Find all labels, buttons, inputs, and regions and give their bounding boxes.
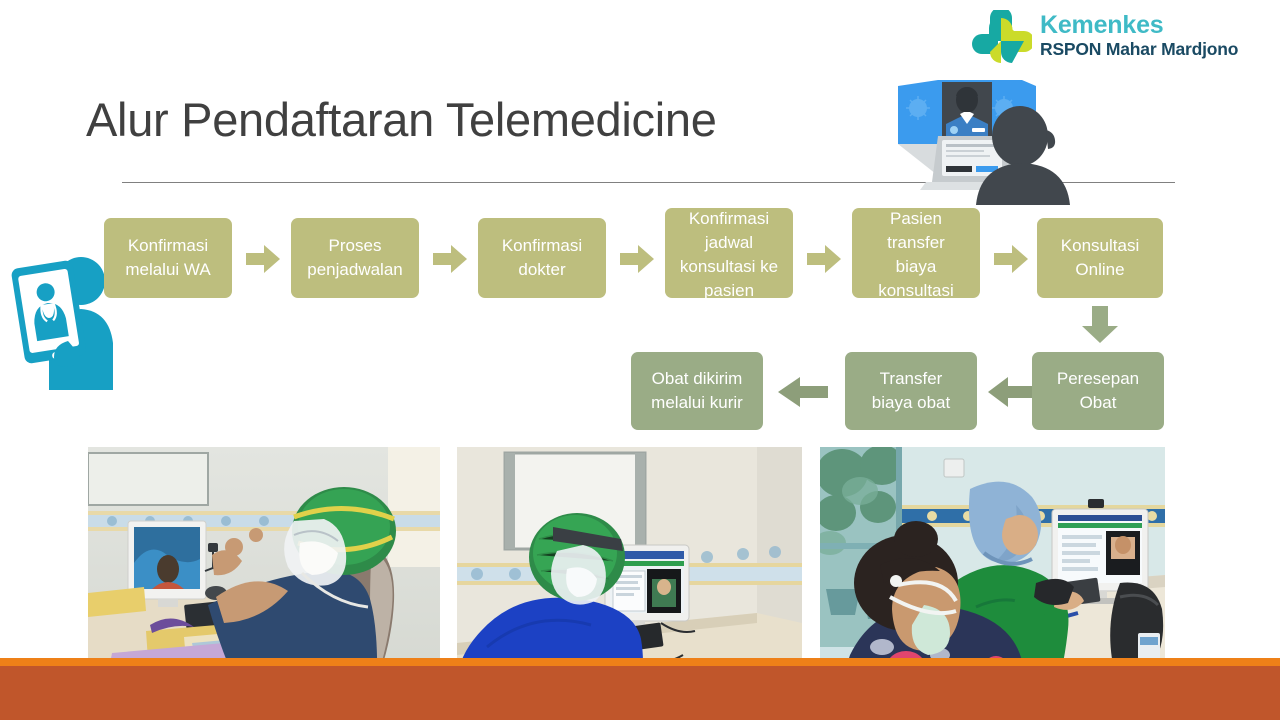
arrow-right-icon bbox=[807, 245, 841, 278]
page-title: Alur Pendaftaran Telemedicine bbox=[86, 92, 906, 147]
flow-box-konfirmasi-dokter[interactable]: Konfirmasidokter bbox=[478, 218, 606, 298]
arrow-right-icon bbox=[246, 245, 280, 278]
flow-box-transfer-biaya-obat[interactable]: Transferbiaya obat bbox=[845, 352, 977, 430]
footer-accent-terracotta-bar bbox=[0, 666, 1280, 720]
flow-box-peresepan-obat[interactable]: PeresepanObat bbox=[1032, 352, 1164, 430]
flow-box-label: Pasientransferbiayakonsultasi bbox=[852, 208, 980, 298]
logo-brand-secondary: RSPON Mahar Mardjono bbox=[1040, 39, 1238, 59]
flow-box-label: Konfirmasijadwalkonsultasi kepasien bbox=[665, 208, 793, 298]
arrow-left-icon bbox=[778, 377, 828, 412]
arrow-down-icon bbox=[1082, 306, 1118, 348]
flow-box-label: Konfirmasidokter bbox=[484, 234, 600, 282]
flow-box-proses-penjadwalan[interactable]: Prosespenjadwalan bbox=[291, 218, 419, 298]
flow-box-konfirmasi-jadwal[interactable]: Konfirmasijadwalkonsultasi kepasien bbox=[665, 208, 793, 298]
flow-box-label: Transferbiaya obat bbox=[851, 367, 971, 415]
flow-box-konsultasi-online[interactable]: KonsultasiOnline bbox=[1037, 218, 1163, 298]
arrow-right-icon bbox=[994, 245, 1028, 278]
kemenkes-logo: Kemenkes RSPON Mahar Mardjono bbox=[968, 8, 1268, 74]
arrow-left-icon bbox=[988, 377, 1032, 412]
logo-brand-text: Kemenkes RSPON Mahar Mardjono bbox=[1040, 12, 1238, 59]
flow-box-konfirmasi-wa[interactable]: Konfirmasimelalui WA bbox=[104, 218, 232, 298]
footer-accent-orange-bar bbox=[0, 658, 1280, 666]
arrow-right-icon bbox=[433, 245, 467, 278]
telemedicine-video-consultation-illustration-icon bbox=[880, 78, 1080, 205]
flow-box-label: PeresepanObat bbox=[1038, 367, 1158, 415]
kemenkes-pinwheel-logo-icon bbox=[968, 10, 1032, 72]
slide-canvas: Kemenkes RSPON Mahar Mardjono Alur Penda… bbox=[0, 0, 1280, 720]
flow-box-label: Prosespenjadwalan bbox=[297, 234, 413, 282]
flow-box-pasien-transfer[interactable]: Pasientransferbiayakonsultasi bbox=[852, 208, 980, 298]
flow-box-label: KonsultasiOnline bbox=[1043, 234, 1157, 282]
logo-brand-primary: Kemenkes bbox=[1040, 12, 1238, 39]
arrow-right-icon bbox=[620, 245, 654, 278]
flow-box-obat-dikirim[interactable]: Obat dikirimmelalui kurir bbox=[631, 352, 763, 430]
flow-box-label: Konfirmasimelalui WA bbox=[110, 234, 226, 282]
flow-box-label: Obat dikirimmelalui kurir bbox=[637, 367, 757, 415]
